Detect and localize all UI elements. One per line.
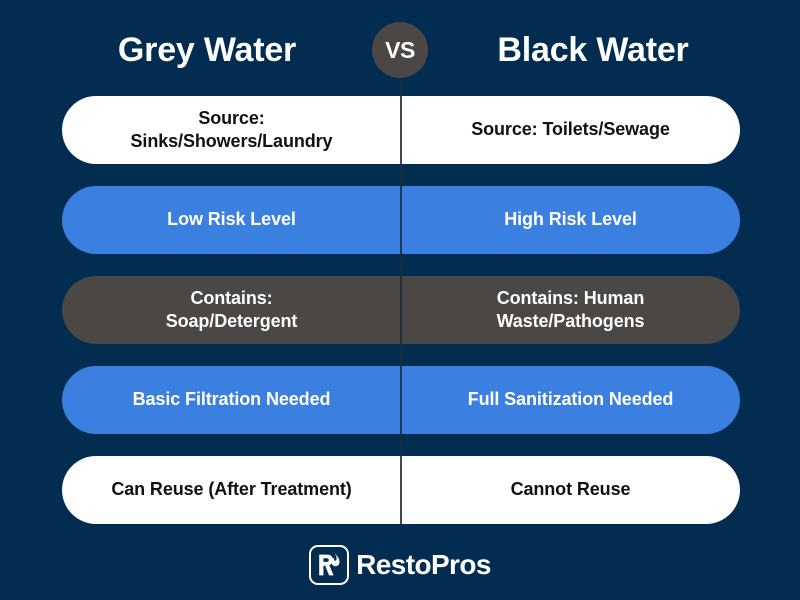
footer: RestoPros (0, 540, 800, 590)
infographic-grey-vs-black-water: Grey Water VS Black Water Source: Sinks/… (0, 0, 800, 600)
cell-right: Contains: Human Waste/Pathogens (401, 276, 740, 344)
cell-right-text: Cannot Reuse (511, 478, 631, 501)
header-title-right: Black Water (448, 33, 738, 67)
cell-left: Contains: Soap/Detergent (62, 276, 401, 344)
cell-right: Full Sanitization Needed (401, 366, 740, 434)
cell-right-text: Contains: Human Waste/Pathogens (497, 287, 645, 333)
cell-right-text: High Risk Level (504, 208, 637, 231)
header: Grey Water VS Black Water (0, 12, 800, 88)
cell-right-text: Full Sanitization Needed (468, 388, 674, 411)
cell-right: Cannot Reuse (401, 456, 740, 524)
cell-right: High Risk Level (401, 186, 740, 254)
cell-left-text: Basic Filtration Needed (133, 388, 331, 411)
brand-logo: RestoPros (309, 545, 491, 585)
cell-left-text: Low Risk Level (167, 208, 296, 231)
cell-right: Source: Toilets/Sewage (401, 96, 740, 164)
center-divider (400, 78, 402, 525)
brand-name: RestoPros (356, 551, 491, 579)
cell-right-text: Source: Toilets/Sewage (471, 118, 670, 141)
cell-left: Low Risk Level (62, 186, 401, 254)
cell-left: Can Reuse (After Treatment) (62, 456, 401, 524)
header-title-left: Grey Water (62, 33, 352, 67)
cell-left-text: Can Reuse (After Treatment) (111, 478, 351, 501)
cell-left: Source: Sinks/Showers/Laundry (62, 96, 401, 164)
cell-left: Basic Filtration Needed (62, 366, 401, 434)
vs-badge: VS (372, 22, 428, 78)
cell-left-text: Contains: Soap/Detergent (166, 287, 298, 333)
restopros-r-flame-icon (309, 545, 349, 585)
cell-left-text: Source: Sinks/Showers/Laundry (131, 107, 333, 153)
